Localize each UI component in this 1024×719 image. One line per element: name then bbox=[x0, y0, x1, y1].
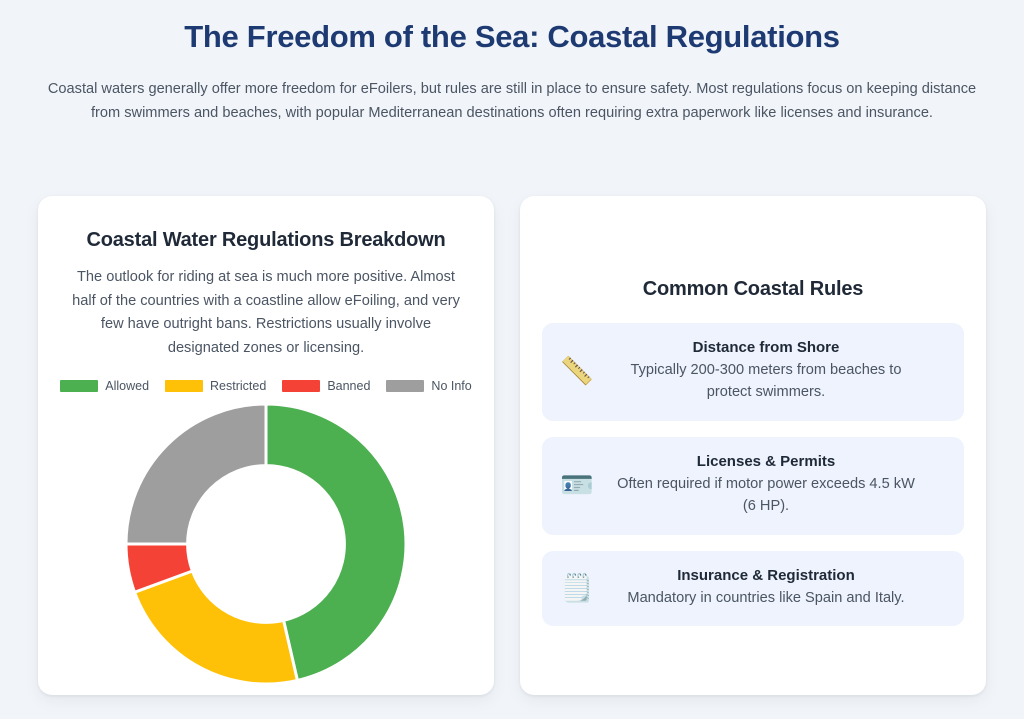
legend-label: No Info bbox=[431, 379, 471, 393]
donut-slice[interactable] bbox=[126, 404, 266, 544]
chart-description: The outlook for riding at sea is much mo… bbox=[58, 266, 474, 361]
rule-heading: Distance from Shore bbox=[610, 339, 922, 356]
legend-swatch-icon bbox=[386, 380, 424, 392]
chart-legend: AllowedRestrictedBannedNo Info bbox=[58, 379, 474, 393]
rule-text: Mandatory in countries like Spain and It… bbox=[610, 588, 922, 610]
rule-text: Typically 200-300 meters from beaches to… bbox=[610, 360, 922, 404]
rules-card: Common Coastal Rules 📏Distance from Shor… bbox=[520, 196, 986, 695]
rule-body: Insurance & RegistrationMandatory in cou… bbox=[610, 567, 948, 610]
donut-slice[interactable] bbox=[135, 571, 298, 684]
legend-item[interactable]: No Info bbox=[386, 379, 471, 393]
rules-title: Common Coastal Rules bbox=[542, 278, 964, 301]
legend-swatch-icon bbox=[165, 380, 203, 392]
chart-card: Coastal Water Regulations Breakdown The … bbox=[38, 196, 494, 695]
rule-item[interactable]: 🗒️Insurance & RegistrationMandatory in c… bbox=[542, 551, 964, 627]
legend-label: Restricted bbox=[210, 379, 266, 393]
page-title: The Freedom of the Sea: Coastal Regulati… bbox=[28, 18, 996, 57]
rules-list: 📏Distance from ShoreTypically 200-300 me… bbox=[542, 323, 964, 626]
rule-item[interactable]: 🪪Licenses & PermitsOften required if mot… bbox=[542, 437, 964, 535]
page-root: The Freedom of the Sea: Coastal Regulati… bbox=[0, 0, 1024, 719]
legend-swatch-icon bbox=[60, 380, 98, 392]
donut-chart-container bbox=[58, 399, 474, 691]
page-header: The Freedom of the Sea: Coastal Regulati… bbox=[0, 0, 1024, 126]
legend-label: Allowed bbox=[105, 379, 149, 393]
donut-chart bbox=[125, 403, 407, 685]
identification-card-icon: 🪪 bbox=[558, 472, 596, 499]
legend-item[interactable]: Banned bbox=[282, 379, 370, 393]
rule-text: Often required if motor power exceeds 4.… bbox=[610, 474, 922, 518]
ruler-icon: 📏 bbox=[558, 358, 596, 385]
document-page-icon: 🗒️ bbox=[558, 575, 596, 602]
legend-item[interactable]: Restricted bbox=[165, 379, 266, 393]
rule-item[interactable]: 📏Distance from ShoreTypically 200-300 me… bbox=[542, 323, 964, 421]
rule-body: Distance from ShoreTypically 200-300 met… bbox=[610, 339, 948, 404]
cards-container: Coastal Water Regulations Breakdown The … bbox=[38, 196, 986, 695]
legend-label: Banned bbox=[327, 379, 370, 393]
rule-heading: Insurance & Registration bbox=[610, 567, 922, 584]
page-subtitle: Coastal waters generally offer more free… bbox=[45, 77, 980, 126]
legend-item[interactable]: Allowed bbox=[60, 379, 149, 393]
legend-swatch-icon bbox=[282, 380, 320, 392]
rule-heading: Licenses & Permits bbox=[610, 453, 922, 470]
chart-title: Coastal Water Regulations Breakdown bbox=[58, 229, 474, 252]
rule-body: Licenses & PermitsOften required if moto… bbox=[610, 453, 948, 518]
